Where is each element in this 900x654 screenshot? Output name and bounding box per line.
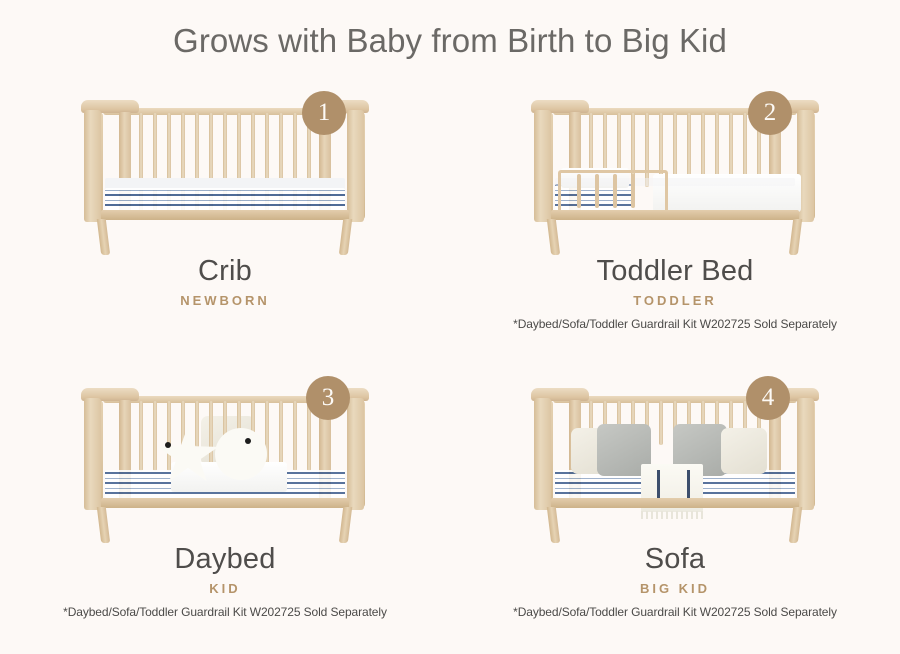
badge-1: 1 [302,91,346,135]
page-title: Grows with Baby from Birth to Big Kid [0,22,900,60]
sofa-caption: Sofa BIG KID *Daybed/Sofa/Toddler Guardr… [450,542,900,619]
sofa-subtitle: BIG KID [450,581,900,596]
crib-subtitle: NEWBORN [0,293,450,308]
sofa-note: *Daybed/Sofa/Toddler Guardrail Kit W2027… [450,605,900,619]
daybed-caption: Daybed KID *Daybed/Sofa/Toddler Guardrai… [0,542,450,619]
crib-title: Crib [0,254,450,288]
crib-caption: Crib NEWBORN [0,254,450,317]
daybed-note: *Daybed/Sofa/Toddler Guardrail Kit W2027… [0,605,450,619]
toddler-bed-caption: Toddler Bed TODDLER *Daybed/Sofa/Toddler… [450,254,900,331]
badge-2: 2 [748,91,792,135]
toddler-bed-stage: 2 [450,78,900,256]
crib-stage: 1 [0,78,450,256]
daybed-title: Daybed [0,542,450,576]
panel-daybed[interactable]: 3 Daybed KID *Daybed/Sofa/Toddler Guardr… [0,366,450,654]
badge-3: 3 [306,376,350,420]
daybed-stage: 3 [0,366,450,544]
panel-sofa[interactable]: 4 Sofa BIG KID *Daybed/Sofa/Toddler Guar… [450,366,900,654]
moon-pillow [215,428,267,480]
panel-toddler-bed[interactable]: 2 Toddler Bed TODDLER *Daybed/Sofa/Toddl… [450,78,900,366]
toddler-bed-title: Toddler Bed [450,254,900,288]
sofa-stage: 4 [450,366,900,544]
toddler-bed-subtitle: TODDLER [450,293,900,308]
panel-crib[interactable]: 1 Crib NEWBORN [0,78,450,366]
product-stage-grid: 1 Crib NEWBORN [0,78,900,643]
sofa-title: Sofa [450,542,900,576]
badge-4: 4 [746,376,790,420]
pillow-cream-right [721,428,767,474]
daybed-subtitle: KID [0,581,450,596]
toddler-bed-note: *Daybed/Sofa/Toddler Guardrail Kit W2027… [450,317,900,331]
